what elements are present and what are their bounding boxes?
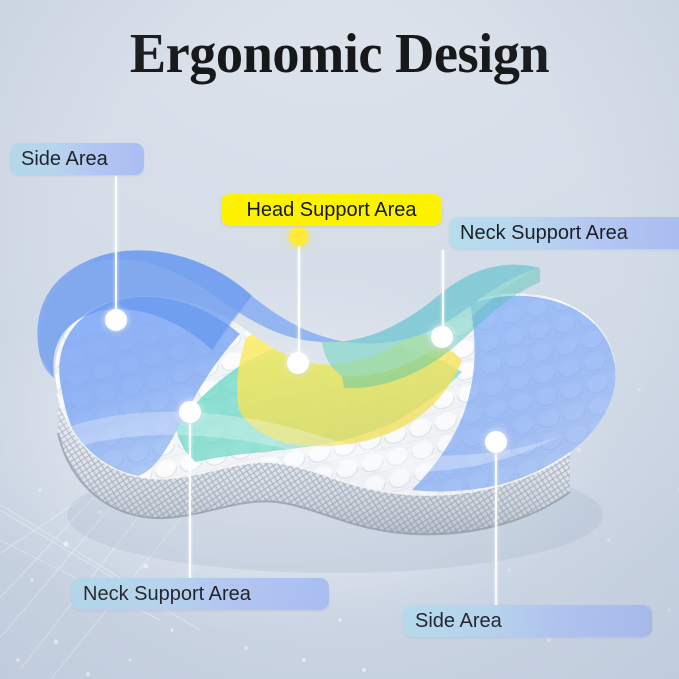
infographic-canvas: Ergonomic Design Side Area Head Support … [0,0,679,679]
background-vignette [0,0,679,679]
